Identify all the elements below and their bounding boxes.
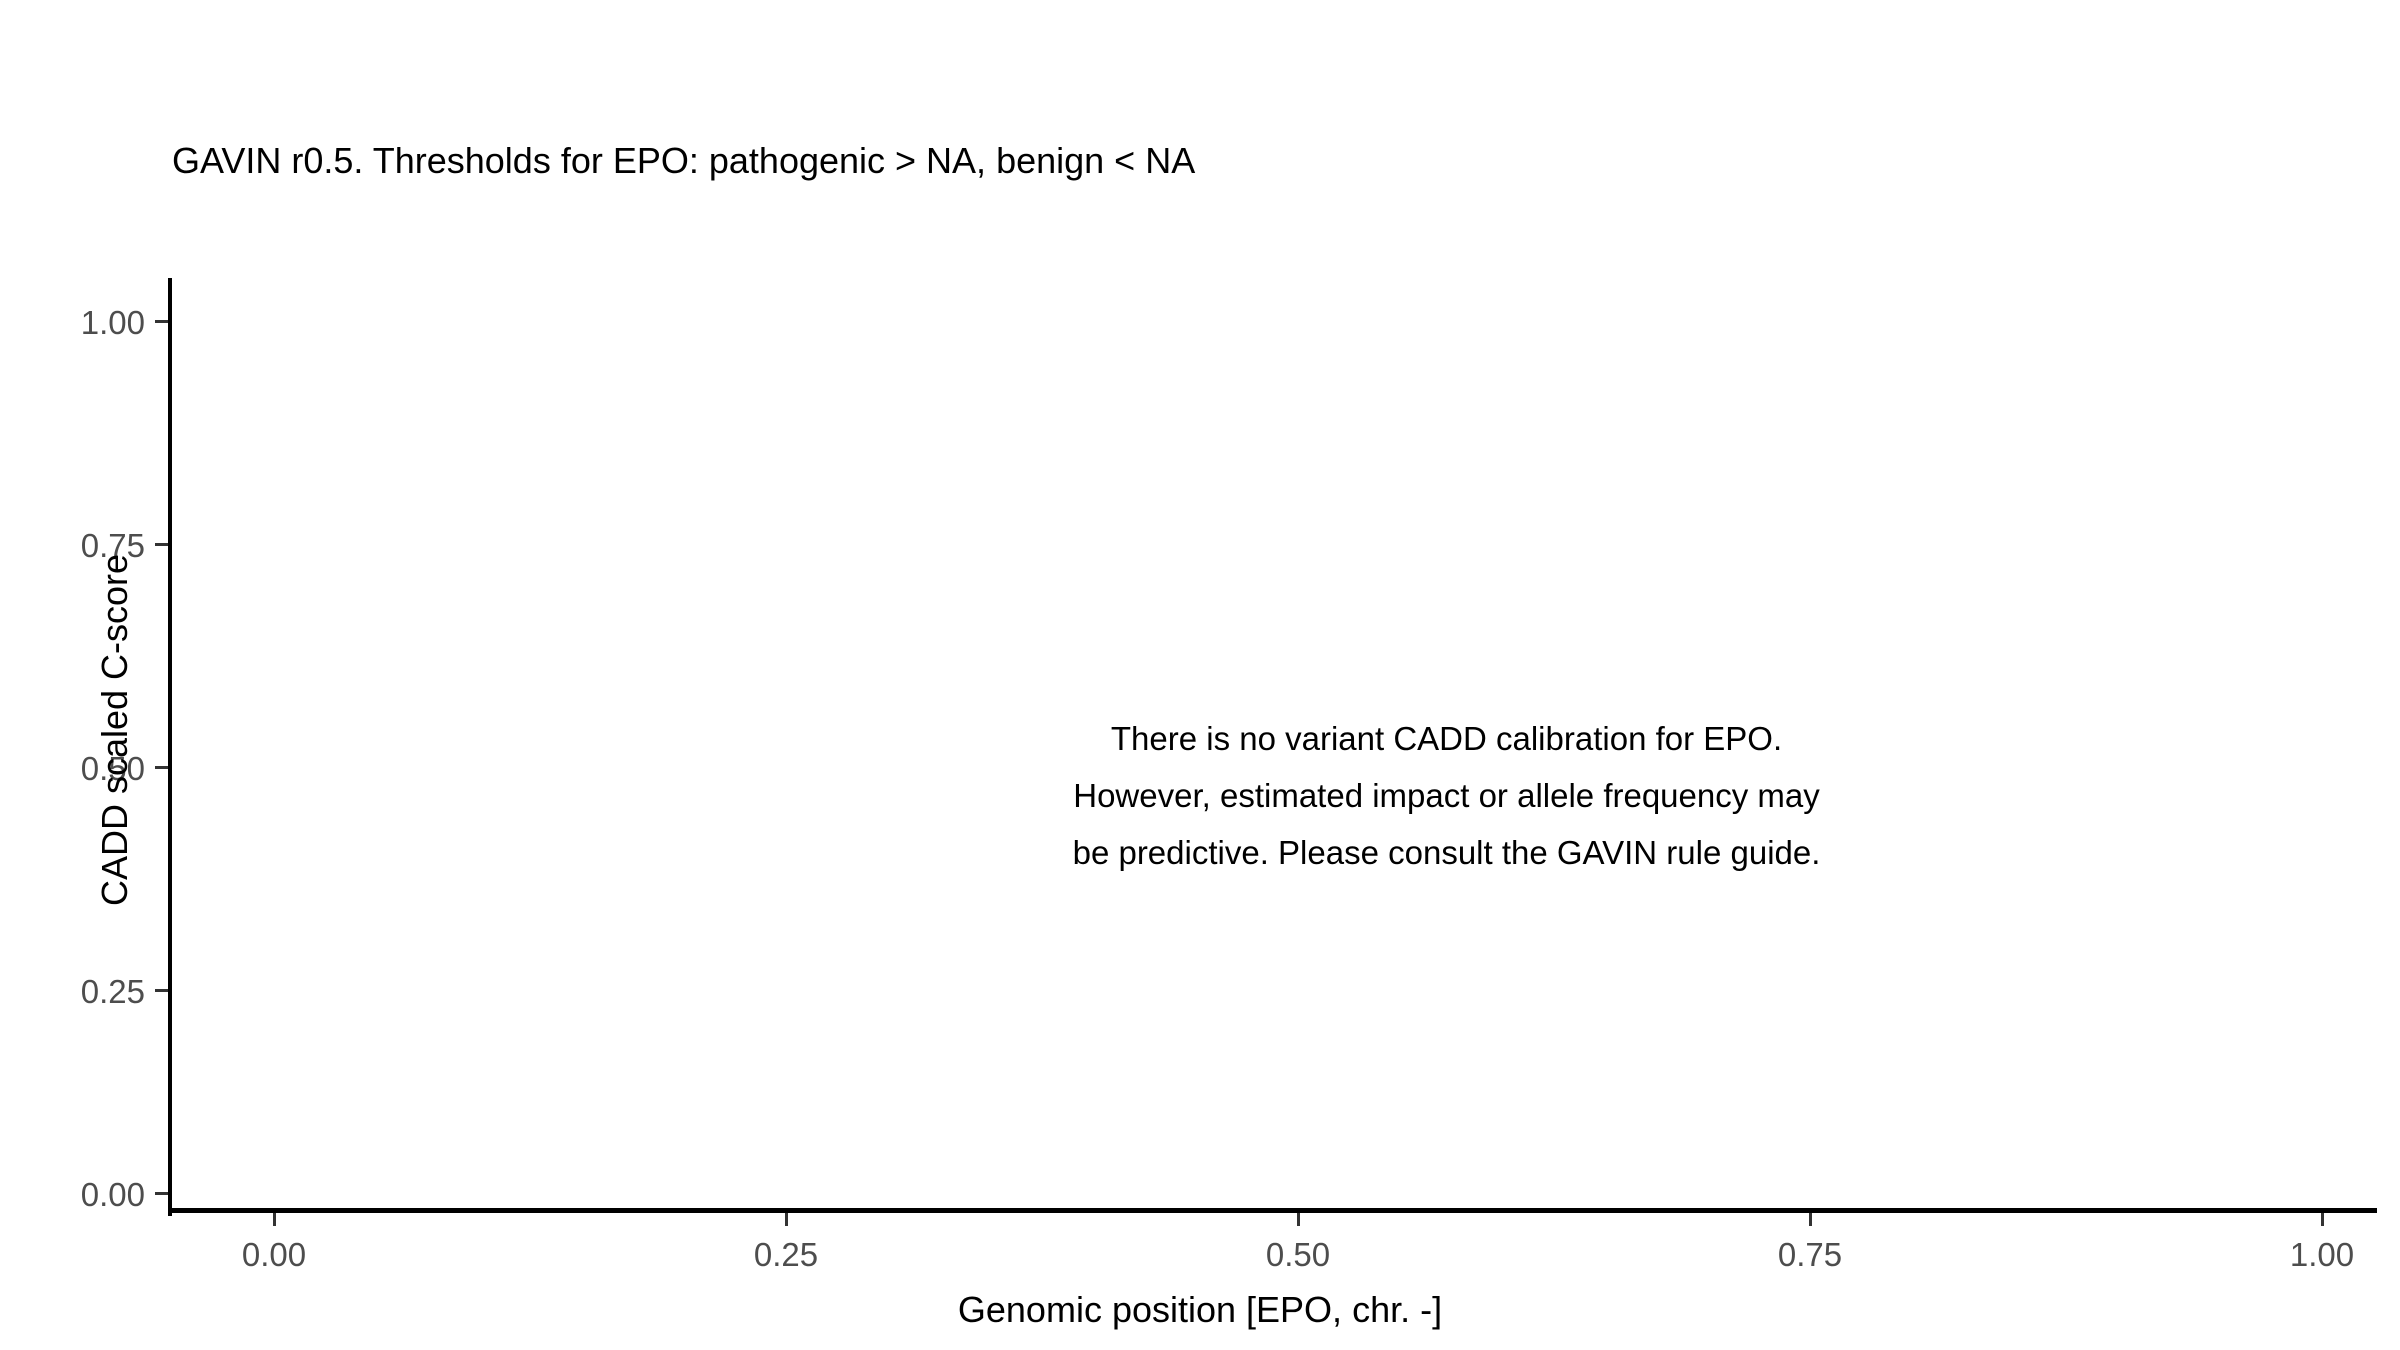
annotation-line-2: However, estimated impact or allele freq… [344, 767, 2400, 824]
annotation-line-3: be predictive. Please consult the GAVIN … [344, 824, 2400, 881]
plot-title-line-1: GAVIN r0.5. Thresholds for EPO: pathogen… [172, 130, 2272, 192]
y-tick-mark-0.25 [155, 989, 168, 992]
plot-panel: There is no variant CADD calibration for… [172, 278, 2377, 1212]
x-tick-label-0.75: 0.75 [1730, 1238, 1890, 1271]
y-tick-mark-0.75 [155, 543, 168, 546]
annotation-line-1: There is no variant CADD calibration for… [344, 710, 2400, 767]
x-tick-mark-0.75 [1809, 1213, 1812, 1226]
x-axis-label: Genomic position [EPO, chr. -] [0, 1292, 2400, 1328]
y-tick-mark-1.00 [155, 320, 168, 323]
x-tick-mark-0.50 [1297, 1213, 1300, 1226]
y-tick-mark-0.50 [155, 766, 168, 769]
chart-canvas: GAVIN r0.5. Thresholds for EPO: pathogen… [0, 0, 2400, 1350]
x-tick-label-1.00: 1.00 [2242, 1238, 2400, 1271]
empty-plot-annotation: There is no variant CADD calibration for… [344, 710, 2400, 881]
x-tick-label-0.50: 0.50 [1218, 1238, 1378, 1271]
y-tick-mark-0.00 [155, 1192, 168, 1195]
y-axis-line [168, 278, 172, 1216]
y-axis-label: CADD scaled C-score [97, 260, 133, 1200]
x-axis-line [168, 1208, 2377, 1213]
x-tick-label-0.00: 0.00 [194, 1238, 354, 1271]
x-tick-label-0.25: 0.25 [706, 1238, 866, 1271]
x-tick-mark-1.00 [2321, 1213, 2324, 1226]
x-tick-mark-0.25 [785, 1213, 788, 1226]
x-tick-mark-0.00 [273, 1213, 276, 1226]
